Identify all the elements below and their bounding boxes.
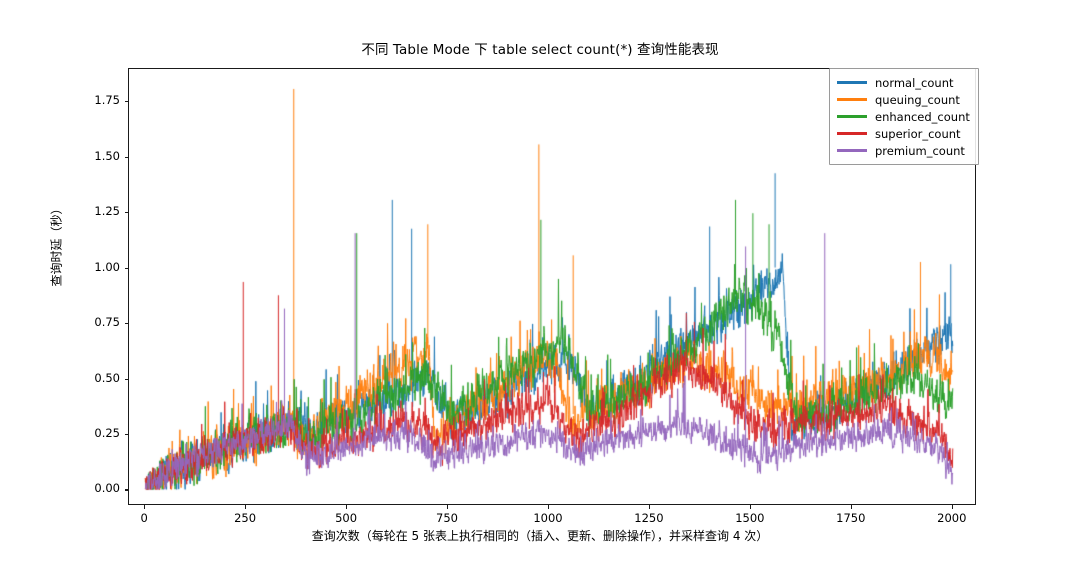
y-tick-mark [125, 379, 129, 380]
x-tick-mark [144, 505, 145, 509]
y-axis-label: 查询时延（秒） [48, 165, 65, 325]
x-tick-label: 1000 [518, 511, 578, 525]
x-tick-label: 250 [215, 511, 275, 525]
legend-item-queuing-count: queuing_count [837, 91, 970, 108]
x-tick-mark [649, 505, 650, 509]
x-tick-mark [245, 505, 246, 509]
y-tick-mark [125, 434, 129, 435]
x-tick-label: 500 [316, 511, 376, 525]
y-tick-label: 1.00 [60, 260, 120, 274]
x-tick-mark [750, 505, 751, 509]
legend-label: superior_count [875, 127, 961, 141]
legend-swatch-icon [837, 132, 867, 134]
legend-item-premium-count: premium_count [837, 142, 970, 159]
legend-label: normal_count [875, 76, 954, 90]
y-tick-label: 1.50 [60, 149, 120, 163]
x-tick-mark [447, 505, 448, 509]
legend-label: queuing_count [875, 93, 960, 107]
x-tick-label: 1250 [619, 511, 679, 525]
y-tick-mark [125, 268, 129, 269]
y-tick-label: 0.25 [60, 426, 120, 440]
y-tick-mark [125, 323, 129, 324]
y-tick-label: 0.50 [60, 371, 120, 385]
x-tick-mark [548, 505, 549, 509]
y-tick-mark [125, 489, 129, 490]
x-tick-label: 750 [417, 511, 477, 525]
chart-title: 不同 Table Mode 下 table select count(*) 查询… [0, 38, 1080, 58]
x-tick-mark [851, 505, 852, 509]
y-tick-label: 0.75 [60, 315, 120, 329]
legend-label: premium_count [875, 144, 965, 158]
legend-item-normal-count: normal_count [837, 74, 970, 91]
y-tick-label: 1.25 [60, 204, 120, 218]
legend-swatch-icon [837, 81, 867, 83]
legend-item-superior-count: superior_count [837, 125, 970, 142]
chart-legend: normal_countqueuing_countenhanced_counts… [829, 68, 979, 165]
legend-swatch-icon [837, 115, 867, 117]
x-tick-label: 1750 [821, 511, 881, 525]
x-tick-label: 1500 [720, 511, 780, 525]
legend-swatch-icon [837, 98, 867, 100]
x-axis-label: 查询次数（每轮在 5 张表上执行相同的（插入、更新、删除操作），并采样查询 4 … [0, 527, 1080, 544]
x-tick-mark [346, 505, 347, 509]
legend-swatch-icon [837, 149, 867, 151]
legend-item-enhanced-count: enhanced_count [837, 108, 970, 125]
y-tick-mark [125, 157, 129, 158]
x-tick-label: 2000 [922, 511, 982, 525]
x-tick-mark [952, 505, 953, 509]
y-tick-mark [125, 212, 129, 213]
y-tick-mark [125, 101, 129, 102]
matplotlib-figure: 不同 Table Mode 下 table select count(*) 查询… [0, 0, 1080, 564]
y-tick-label: 0.00 [60, 481, 120, 495]
y-tick-label: 1.75 [60, 93, 120, 107]
x-tick-label: 0 [114, 511, 174, 525]
legend-label: enhanced_count [875, 110, 970, 124]
